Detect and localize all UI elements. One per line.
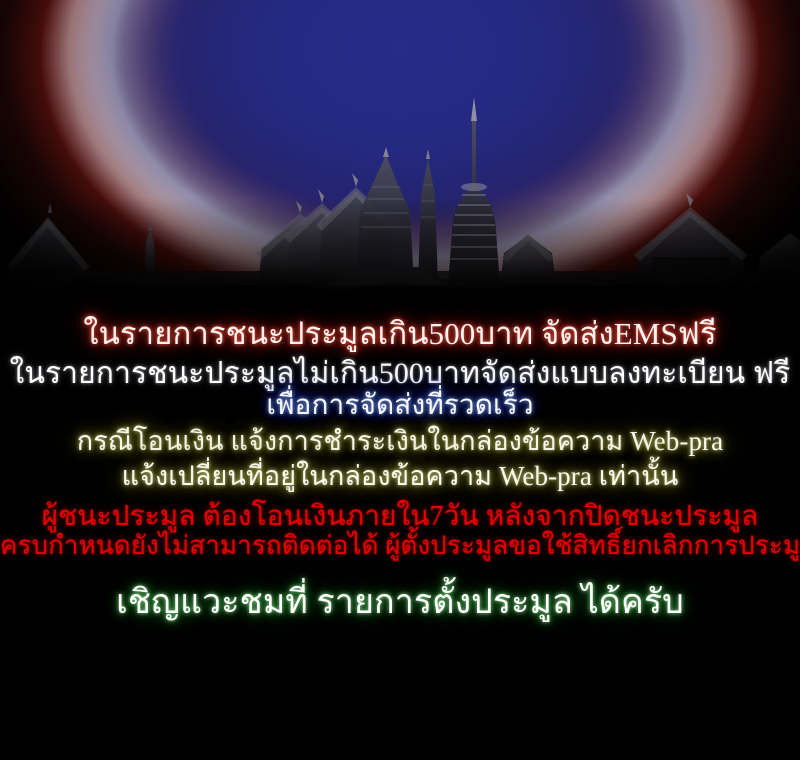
line-cancel-rights: ครบกำหนดยังไม่สามารถติดต่อได้ ผู้ตั้งประ… bbox=[0, 533, 800, 560]
line-address-change: แจ้งเปลี่ยนที่อยู่ในกล่องข้อความ Web-pra… bbox=[0, 463, 800, 491]
announcement-text-block: ในรายการชนะประมูลเกิน500บาท จัดส่งEMSฟรี… bbox=[0, 318, 800, 621]
line-shipping-free-ems: ในรายการชนะประมูลเกิน500บาท จัดส่งEMSฟรี bbox=[0, 318, 800, 350]
line-payment-deadline: ผู้ชนะประมูล ต้องโอนเงินภายใน7วัน หลังจา… bbox=[0, 503, 800, 532]
line-transfer-notify: กรณีโอนเงิน แจ้งการชำระเงินในกล่องข้อควา… bbox=[0, 428, 800, 456]
auction-terms-banner: ในรายการชนะประมูลเกิน500บาท จัดส่งEMSฟรี… bbox=[0, 0, 800, 760]
line-shipping-registered: ในรายการชนะประมูลไม่เกิน500บาทจัดส่งแบบล… bbox=[0, 359, 800, 390]
line-invite-visit: เชิญแวะชมที่ รายการตั้งประมูล ได้ครับ bbox=[0, 586, 800, 621]
line-fast-delivery: เพื่อการจัดส่งที่รวดเร็ว bbox=[0, 392, 800, 421]
